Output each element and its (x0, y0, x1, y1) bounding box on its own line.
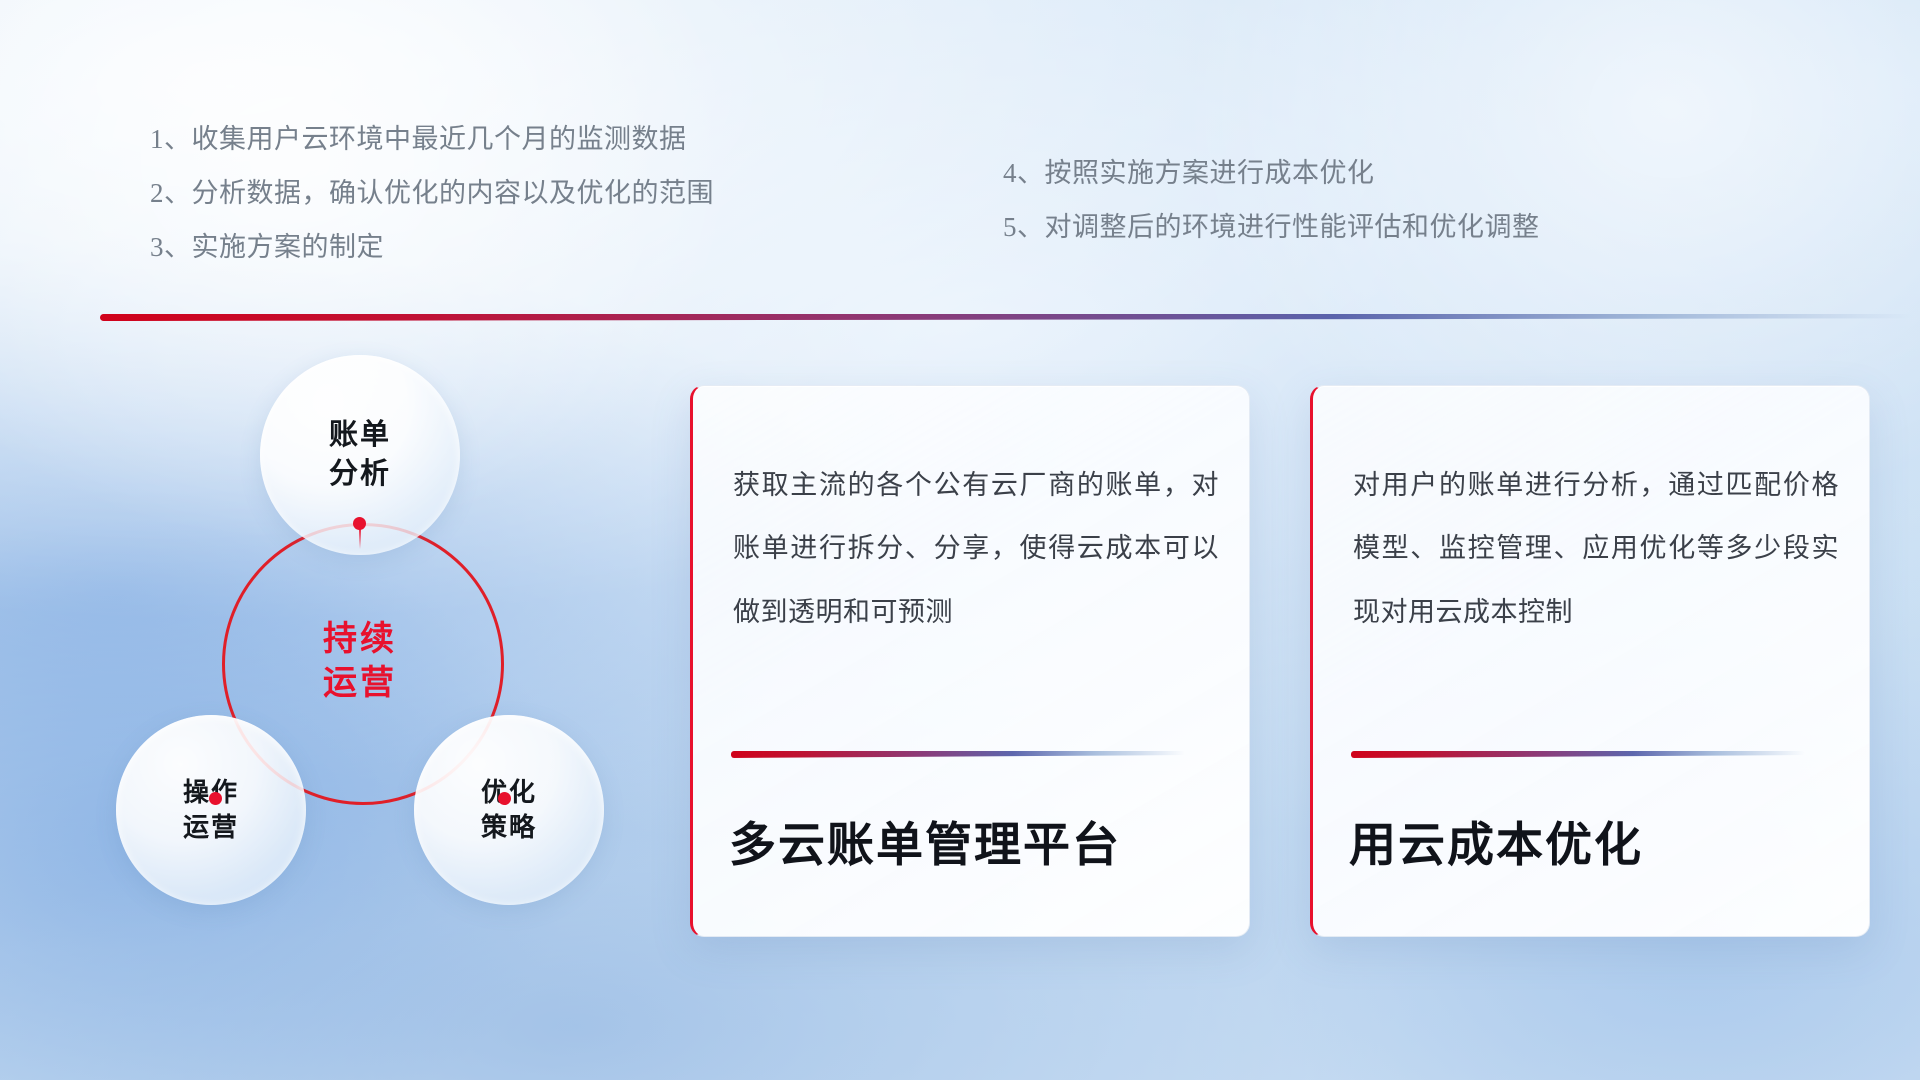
card-title: 多云账单管理平台 (729, 806, 1121, 875)
step-text: 收集用户云环境中最近几个月的监测数据 (192, 124, 687, 154)
step-number: 2、 (150, 178, 192, 208)
center-label-line2: 运营 (323, 661, 397, 705)
step-text: 按照实施方案进行成本优化 (1045, 158, 1375, 188)
slide-canvas: 1、收集用户云环境中最近几个月的监测数据 2、分析数据，确认优化的内容以及优化的… (0, 0, 1920, 1080)
bubble-label-line2: 策略 (481, 810, 537, 845)
step-text: 实施方案的制定 (192, 232, 385, 262)
card-divider (731, 751, 1185, 758)
connector-node-left (209, 792, 222, 805)
connector-node-right (498, 792, 511, 805)
steps-list-left: 1、收集用户云环境中最近几个月的监测数据 2、分析数据，确认优化的内容以及优化的… (150, 126, 714, 288)
bubble-label-line2: 运营 (183, 810, 239, 845)
continuous-operation-diagram: 账单 分析 操作 运营 优化 策略 持续 运营 (98, 355, 638, 955)
card-title: 用云成本优化 (1349, 806, 1643, 875)
list-item: 2、分析数据，确认优化的内容以及优化的范围 (150, 180, 714, 207)
card-body-text: 对用户的账单进行分析，通过匹配价格模型、监控管理、应用优化等多少段实现对用云成本… (1353, 454, 1839, 644)
connector-node-top (353, 517, 366, 530)
center-label-line1: 持续 (323, 617, 397, 661)
list-item: 5、对调整后的环境进行性能评估和优化调整 (1003, 214, 1540, 241)
section-divider (100, 314, 1912, 321)
feature-card-cloud-cost-optimization[interactable]: 对用户的账单进行分析，通过匹配价格模型、监控管理、应用优化等多少段实现对用云成本… (1310, 385, 1870, 937)
step-number: 1、 (150, 124, 192, 154)
steps-list-right: 4、按照实施方案进行成本优化 5、对调整后的环境进行性能评估和优化调整 (1003, 160, 1540, 268)
card-divider (1351, 751, 1805, 758)
list-item: 3、实施方案的制定 (150, 234, 714, 261)
step-number: 4、 (1003, 158, 1045, 188)
step-text: 分析数据，确认优化的内容以及优化的范围 (192, 178, 715, 208)
list-item: 1、收集用户云环境中最近几个月的监测数据 (150, 126, 714, 153)
bubble-label-line2: 分析 (329, 455, 391, 494)
step-text: 对调整后的环境进行性能评估和优化调整 (1045, 212, 1540, 242)
feature-card-multi-cloud-billing[interactable]: 获取主流的各个公有云厂商的账单，对账单进行拆分、分享，使得云成本可以做到透明和可… (690, 385, 1250, 937)
list-item: 4、按照实施方案进行成本优化 (1003, 160, 1540, 187)
step-number: 5、 (1003, 212, 1045, 242)
diagram-center-label: 持续 运营 (222, 523, 498, 799)
bubble-label-line1: 账单 (329, 416, 391, 455)
card-body-text: 获取主流的各个公有云厂商的账单，对账单进行拆分、分享，使得云成本可以做到透明和可… (733, 454, 1219, 644)
connector-stem-top (359, 527, 361, 549)
step-number: 3、 (150, 232, 192, 262)
